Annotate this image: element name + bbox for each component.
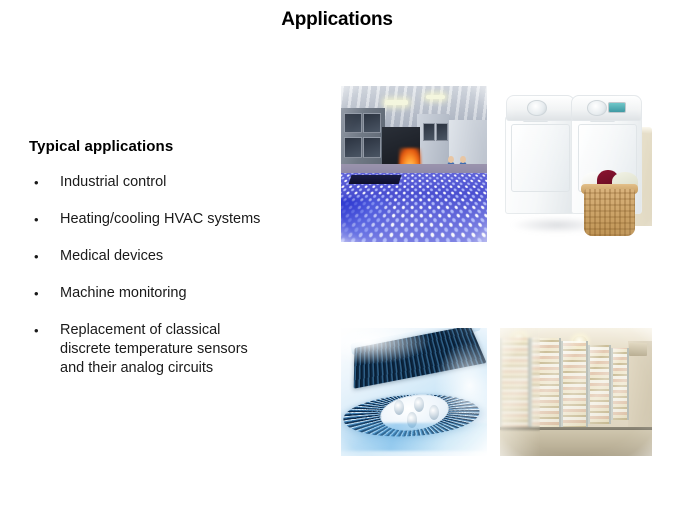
- hvac-fan-photo: [341, 328, 487, 456]
- refrigerated-case: [611, 348, 629, 420]
- washer-dryer-photo: [500, 86, 652, 242]
- content-text-column: Typical applications • Industrial contro…: [29, 138, 329, 378]
- supermarket-refrigeration-photo: [500, 328, 652, 456]
- list-item-label: Medical devices: [60, 247, 163, 266]
- washer-body: [505, 116, 575, 215]
- bullet-icon: •: [29, 173, 60, 192]
- store-sign: [629, 343, 647, 356]
- hvac-blue-streak: [341, 423, 487, 451]
- dryer-control-panel: [571, 95, 641, 120]
- list-item: • Industrial control: [29, 173, 329, 192]
- dryer-dial-icon: [587, 100, 607, 116]
- plant-foreground-bar: [348, 175, 401, 184]
- list-item: • Medical devices: [29, 247, 329, 266]
- bullet-icon: •: [29, 321, 60, 340]
- industrial-plant-photo-inner: [341, 86, 487, 242]
- plant-blue-streak: [341, 198, 388, 239]
- list-item-label: Replacement of classical discrete temper…: [60, 321, 248, 378]
- hvac-highlight: [434, 341, 487, 431]
- case-glass-door: [613, 348, 627, 420]
- ceiling-lamp-icon: [426, 95, 445, 99]
- ceiling-lamp-icon: [385, 100, 408, 105]
- plant-window: [363, 113, 381, 134]
- store-blur-overlay: [500, 328, 540, 456]
- laundry-basket: [584, 189, 636, 236]
- page-title: Applications: [0, 9, 674, 31]
- case-glass-door: [563, 341, 586, 428]
- industrial-plant-photo: [341, 86, 487, 242]
- list-item: • Replacement of classical discrete temp…: [29, 321, 329, 378]
- refrigerated-case: [561, 341, 588, 428]
- refrigerated-case: [588, 345, 611, 424]
- washer-dial-icon: [527, 100, 546, 116]
- washer-control-panel: [506, 95, 575, 120]
- plant-window: [436, 123, 448, 141]
- plant-window: [363, 137, 381, 158]
- plant-window: [423, 123, 435, 141]
- list-item: • Machine monitoring: [29, 284, 329, 303]
- washer-door: [511, 124, 570, 192]
- section-heading-label: Typical applications: [29, 138, 173, 155]
- plant-window: [344, 137, 362, 158]
- bullet-icon: •: [29, 284, 60, 303]
- list-item-label: Machine monitoring: [60, 284, 187, 303]
- list-item-label: Heating/cooling HVAC systems: [60, 210, 260, 229]
- dryer-display: [608, 102, 626, 113]
- plant-window: [344, 113, 362, 134]
- section-heading: Typical applications: [29, 138, 329, 155]
- hub-screw-icon: [394, 400, 404, 415]
- bullet-icon: •: [29, 247, 60, 266]
- case-glass-door: [590, 345, 609, 424]
- bullet-icon: •: [29, 210, 60, 229]
- hvac-highlight: [341, 328, 429, 364]
- list-item-label: Industrial control: [60, 173, 166, 192]
- washer-dryer-photo-inner: [500, 86, 652, 242]
- supermarket-refrigeration-photo-inner: [500, 328, 652, 456]
- list-item: • Heating/cooling HVAC systems: [29, 210, 329, 229]
- hvac-fan-photo-inner: [341, 328, 487, 456]
